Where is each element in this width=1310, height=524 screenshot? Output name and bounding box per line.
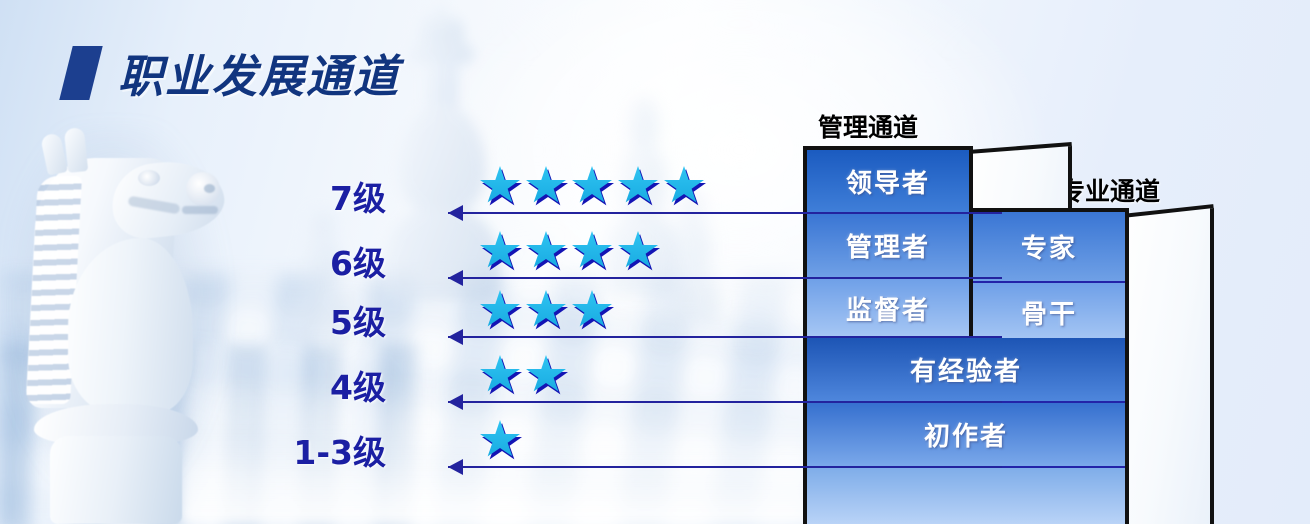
star-icon xyxy=(618,166,658,206)
star-rating-6 xyxy=(480,231,658,271)
level-label-6: 6级 xyxy=(330,237,386,285)
arrow-line-6 xyxy=(448,277,1002,279)
star-icon xyxy=(572,166,612,206)
star-icon xyxy=(526,166,566,206)
star-rating-5 xyxy=(480,290,612,330)
level-label-1-3: 1-3级 xyxy=(293,426,386,474)
star-icon xyxy=(618,231,658,271)
star-icon xyxy=(664,166,704,206)
star-icon xyxy=(480,355,520,395)
arrow-line-1-3 xyxy=(448,466,1002,468)
arrow-line-4 xyxy=(448,401,1002,403)
star-icon xyxy=(480,290,520,330)
star-icon xyxy=(480,231,520,271)
level-label-5: 5级 xyxy=(330,296,386,344)
star-rating-7 xyxy=(480,166,704,206)
star-icon xyxy=(572,231,612,271)
star-icon xyxy=(526,231,566,271)
arrow-line-7 xyxy=(448,212,1002,214)
star-icon xyxy=(572,290,612,330)
star-icon xyxy=(480,420,520,460)
level-scale: 7级 6级 5级 4级 1-3级 xyxy=(0,0,1310,524)
level-label-7: 7级 xyxy=(330,172,386,220)
career-path-infographic: 职业发展通道 管理通道 专业通道 领导者 管理者 监督者 专家 骨干 有经验者 … xyxy=(0,0,1310,524)
level-label-4: 4级 xyxy=(330,361,386,409)
star-rating-4 xyxy=(480,355,566,395)
star-icon xyxy=(480,166,520,206)
star-rating-1-3 xyxy=(480,420,520,460)
star-icon xyxy=(526,355,566,395)
arrow-line-5 xyxy=(448,336,1002,338)
star-icon xyxy=(526,290,566,330)
